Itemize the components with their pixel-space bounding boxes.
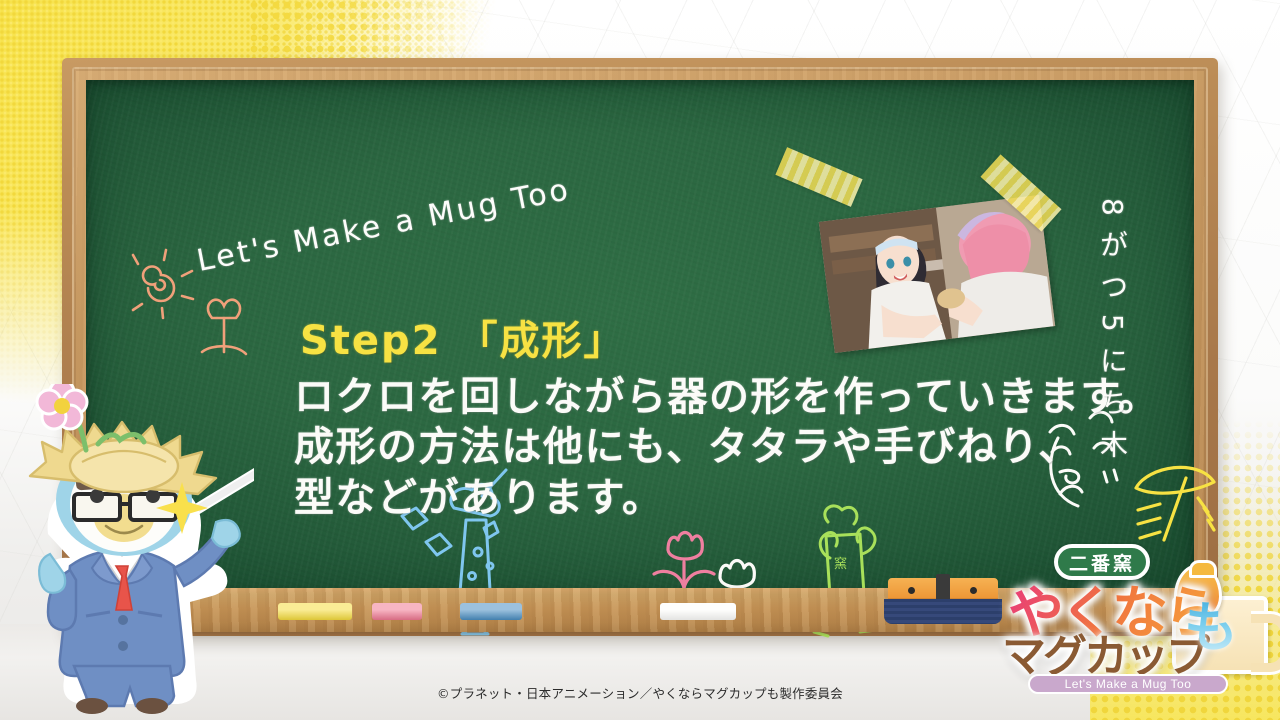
scene-photo[interactable] xyxy=(819,195,1055,353)
board-body-line-3: 型などがあります。 xyxy=(294,473,1194,523)
uzuki-mascot-teacher[interactable] xyxy=(0,384,254,714)
board-body-text: ロクロを回しながら器の形を作っていきます。 成形の方法は他にも、タタラや手びねり… xyxy=(294,372,1194,523)
board-body-line-1: ロクロを回しながら器の形を作っていきます。 xyxy=(294,372,1194,422)
chalk-pink[interactable] xyxy=(372,603,422,620)
slide-stage: 窯 xyxy=(0,0,1280,720)
logo-mo-character: も xyxy=(1184,583,1238,662)
series-logo[interactable]: 二番窯 やくなら マグカップ も Let's Make a Mug Too xyxy=(1002,542,1274,692)
board-body-line-2: 成形の方法は他にも、タタラや手びねり、 xyxy=(294,422,1194,472)
mascot-illustration xyxy=(0,384,254,714)
eraser-screw-left xyxy=(908,587,915,594)
eraser-felt xyxy=(884,599,1002,624)
board-date: 8がつ5にち木 xyxy=(1092,198,1132,472)
scene-photo-image xyxy=(819,195,1055,353)
svg-text:窯: 窯 xyxy=(834,556,847,571)
doodle-sprout xyxy=(202,300,246,354)
doodle-spiral-sun xyxy=(133,250,193,318)
copyright-notice: ©プラネット・日本アニメーション／やくならマグカップも製作委員会 xyxy=(0,683,1280,702)
chalk-yellow[interactable] xyxy=(278,603,352,620)
eraser-screw-right xyxy=(970,587,977,594)
chalk-white[interactable] xyxy=(660,603,736,620)
doodle-tulip-pink xyxy=(654,533,714,595)
board-step-title: Step2 「成形」 xyxy=(300,308,625,366)
chalk-blue[interactable] xyxy=(460,603,522,620)
blackboard-eraser[interactable] xyxy=(884,578,1002,624)
eraser-handle-strip xyxy=(936,574,950,602)
